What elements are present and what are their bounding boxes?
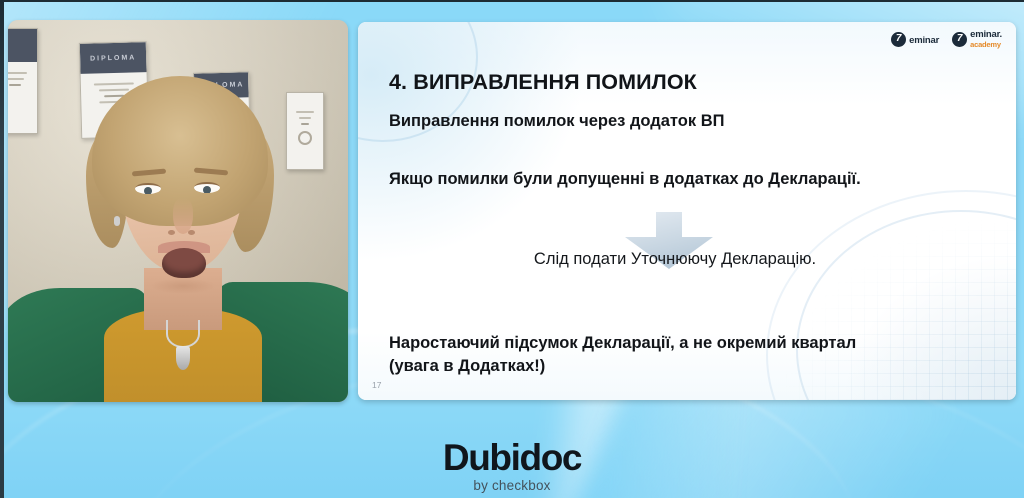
brand-subtitle: by checkbox [0,479,1024,493]
slide-page-number: 17 [372,380,381,390]
logo-7eminar-primary: eminar [909,35,939,46]
logo-7eminar-text: eminar [909,31,939,47]
logo-seven-icon: 7 [952,32,967,47]
slide-note-text: Наростаючий підсумок Декларації, а не ок… [389,332,856,378]
slide-subtitle: Виправлення помилок через додаток ВП [389,112,725,131]
presenter-nostril-right [188,230,195,235]
logo-7eminar: 7 eminar [891,31,939,47]
presenter-figure [8,20,348,402]
presenter-chin-shadow [150,278,216,294]
presenter-pupil-left [144,187,152,194]
presenter-nostril-left [168,230,175,235]
brand-footer: Dubidoc by checkbox [0,439,1024,493]
slide-note-line-2: (увага в Додатках!) [389,355,856,378]
slide-condition-text: Якщо помилки були допущенні в додатках д… [389,170,861,189]
slide-note-line-1: Наростаючий підсумок Декларації, а не ок… [389,332,856,355]
presenter-pendant [176,346,190,370]
slide-content: 7 eminar 7 eminar. academy 4. ВИПРАВЛЕНН… [358,22,1016,400]
presenter-eye-right [194,182,220,193]
presenter-video-tile[interactable]: DIPLOMA DIPLOMA [8,20,348,402]
brand-name: Dubidoc [0,439,1024,476]
logo-academy-primary: eminar. [970,30,1002,40]
presentation-slide[interactable]: 7 eminar 7 eminar. academy 4. ВИПРАВЛЕНН… [358,22,1016,400]
screen-edge-left [0,0,4,498]
presenter-nose [173,198,193,234]
presenter-mouth [162,248,206,278]
slide-logos: 7 eminar 7 eminar. academy [891,30,1002,48]
logo-seven-icon: 7 [891,32,906,47]
logo-academy-secondary: academy [970,41,1002,49]
slide-title: 4. ВИПРАВЛЕННЯ ПОМИЛОК [389,70,697,95]
logo-7eminar-academy-text: eminar. academy [970,30,1002,48]
slide-result-text: Слід подати Уточнюючу Декларацію. [358,250,1016,269]
presenter-earring [114,216,120,226]
presenter-pupil-right [203,186,211,193]
logo-7eminar-academy: 7 eminar. academy [952,30,1002,48]
screen-edge-top [0,0,1024,2]
presenter-eye-left [135,183,161,194]
presenter-necklace [166,320,200,348]
